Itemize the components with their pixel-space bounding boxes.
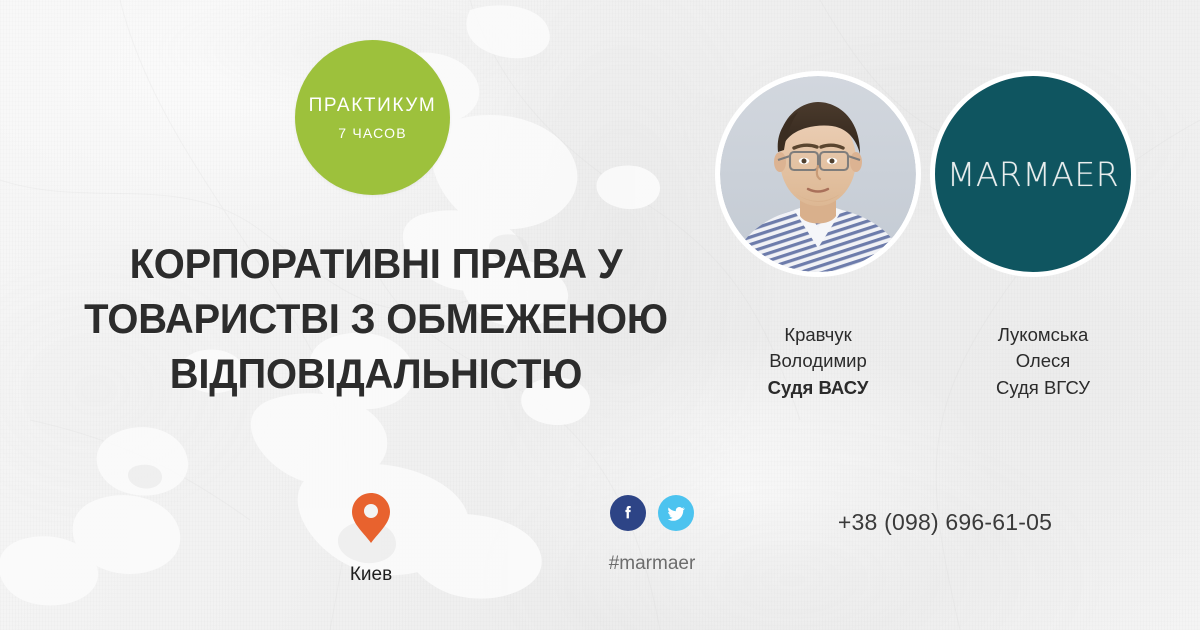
- map-pin-icon: [351, 492, 391, 544]
- speaker-caption-1: Кравчук Володимир Судя ВАСУ: [703, 322, 933, 401]
- event-poster: ПРАКТИКУМ 7 ЧАСОВ КОРПОРАТИВНІ ПРАВА У Т…: [0, 0, 1200, 630]
- practicum-badge: ПРАКТИКУМ 7 ЧАСОВ: [295, 40, 450, 195]
- headline-line-1: КОРПОРАТИВНІ ПРАВА У: [53, 236, 699, 291]
- badge-subtitle: 7 ЧАСОВ: [338, 126, 406, 140]
- speaker-role: Судя ВАСУ: [703, 375, 933, 401]
- facebook-icon[interactable]: [610, 495, 646, 531]
- social-block: #marmaer: [600, 495, 704, 575]
- speaker-caption-2: Лукомська Олеся Судя ВГСУ: [928, 322, 1158, 401]
- hashtag-label: #marmaer: [600, 553, 704, 575]
- speaker-surname: Лукомська: [928, 322, 1158, 348]
- social-icon-row: [600, 495, 704, 531]
- twitter-icon[interactable]: [658, 495, 694, 531]
- brand-logo-circle: MARMAER: [935, 76, 1131, 272]
- portrait-image: [720, 76, 916, 272]
- badge-title: ПРАКТИКУМ: [309, 96, 437, 115]
- headline-line-2: ТОВАРИСТВІ З ОБМЕЖЕНОЮ: [53, 291, 699, 346]
- poster-headline: КОРПОРАТИВНІ ПРАВА У ТОВАРИСТВІ З ОБМЕЖЕ…: [53, 236, 699, 401]
- brand-logo-text: MARMAER: [947, 155, 1119, 194]
- speaker-surname: Кравчук: [703, 322, 933, 348]
- speaker-firstname: Олеся: [928, 348, 1158, 374]
- speaker-photo-avatar: [720, 76, 916, 272]
- facebook-glyph: [618, 503, 638, 523]
- location-label: Киев: [332, 564, 410, 586]
- twitter-glyph: [666, 503, 687, 524]
- speaker-firstname: Володимир: [703, 348, 933, 374]
- headline-line-3: ВІДПОВІДАЛЬНІСТЮ: [53, 346, 699, 401]
- location-block: Киев: [332, 492, 410, 586]
- contact-phone: +38 (098) 696-61-05: [780, 509, 1110, 536]
- portrait-illustration: [720, 76, 916, 272]
- speaker-role: Судя ВГСУ: [928, 375, 1158, 401]
